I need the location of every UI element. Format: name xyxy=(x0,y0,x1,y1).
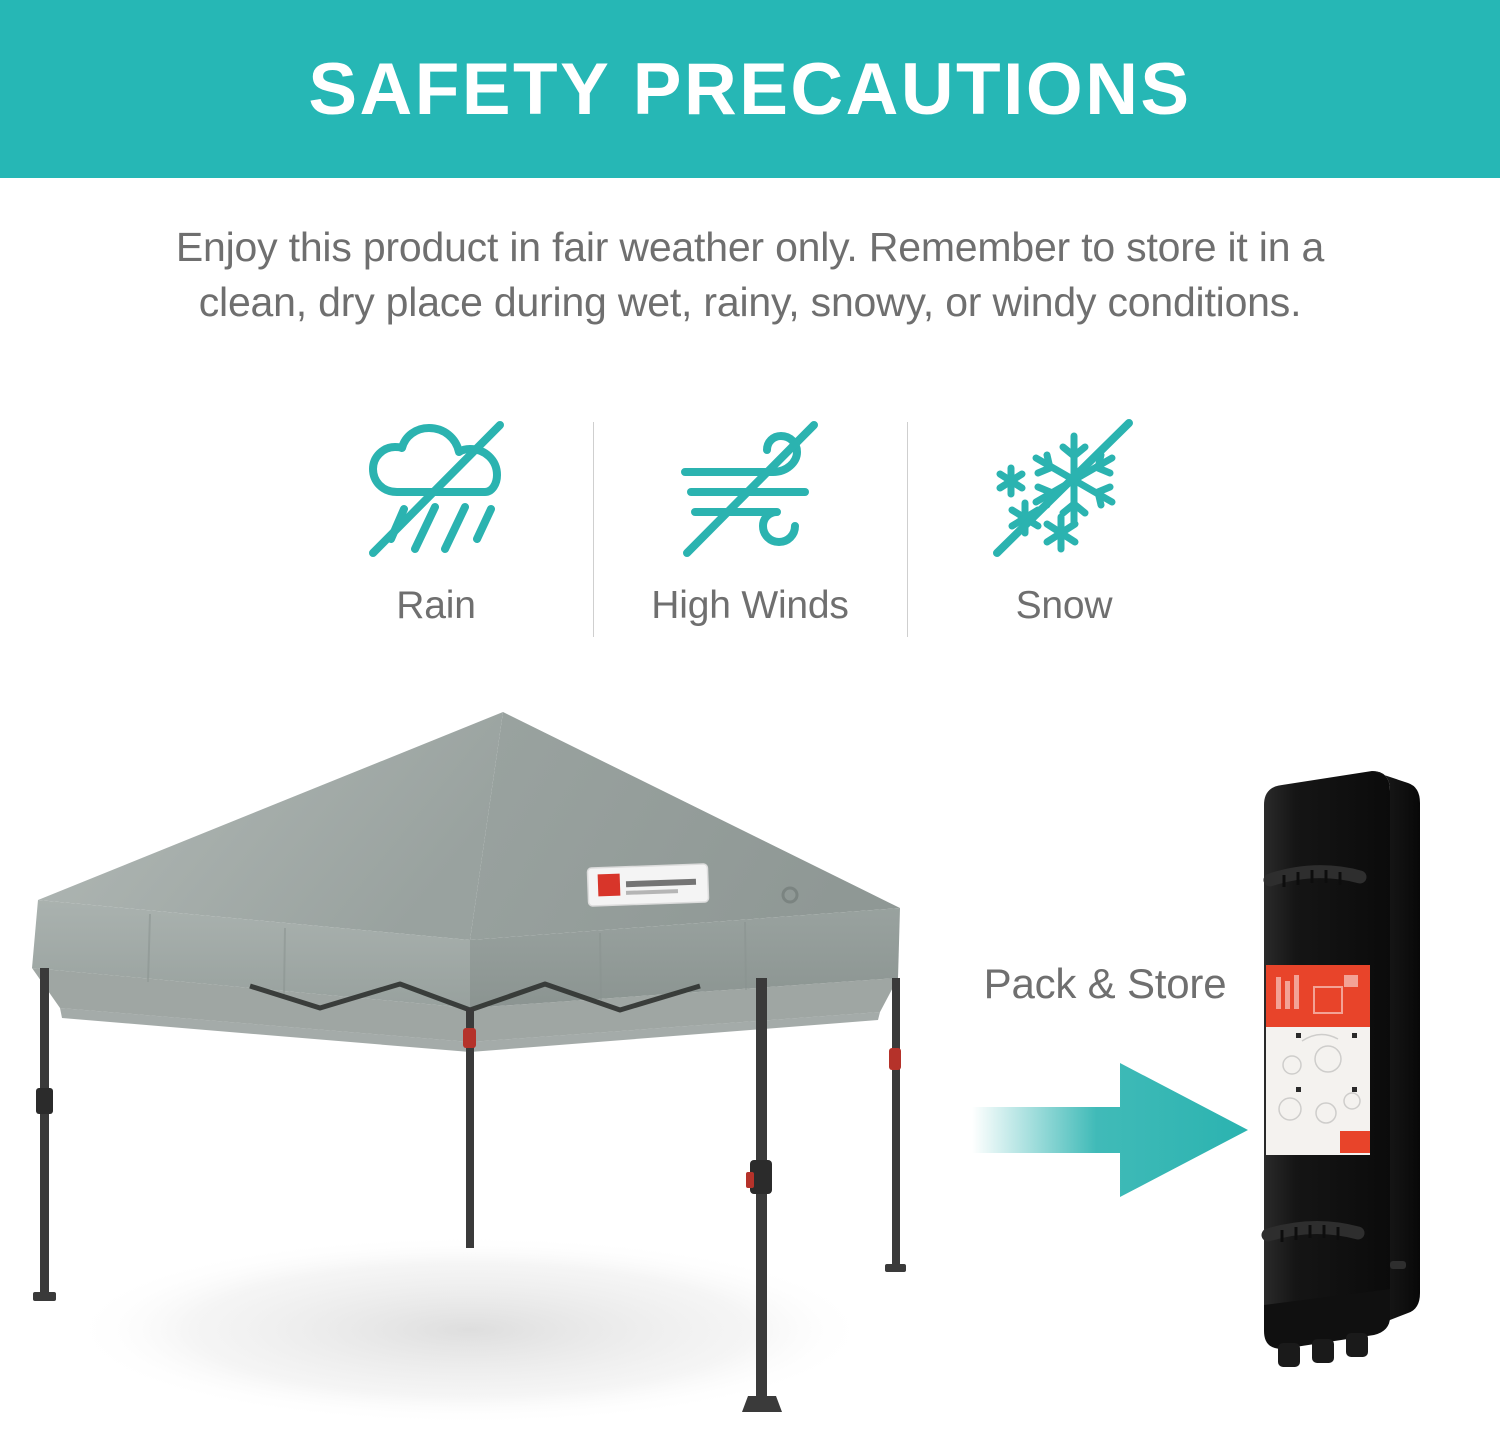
page-title: SAFETY PRECAUTIONS xyxy=(308,53,1191,126)
weather-warning-row: Rain High Winds xyxy=(0,408,1500,668)
canopy-tent-image xyxy=(0,690,1000,1430)
weather-item-high-winds: High Winds xyxy=(594,408,907,628)
bag-product-label xyxy=(1266,965,1370,1155)
no-rain-cloud-icon xyxy=(351,408,521,568)
weather-label-high-winds: High Winds xyxy=(651,584,848,628)
brand-label xyxy=(587,864,708,906)
subtitle-line-2: clean, dry place during wet, rainy, snow… xyxy=(0,275,1500,330)
pack-store-arrow xyxy=(960,1055,1260,1205)
no-snow-snowflake-icon xyxy=(979,408,1149,568)
weather-label-snow: Snow xyxy=(1016,584,1113,628)
product-illustration-area: Pack & Store xyxy=(0,690,1500,1430)
carry-bag-image xyxy=(1240,765,1460,1385)
subtitle-line-1: Enjoy this product in fair weather only.… xyxy=(0,220,1500,275)
no-high-wind-icon xyxy=(665,408,835,568)
weather-item-snow: Snow xyxy=(908,408,1221,628)
weather-label-rain: Rain xyxy=(396,584,475,628)
header-banner: SAFETY PRECAUTIONS xyxy=(0,0,1500,178)
weather-item-rain: Rain xyxy=(280,408,593,628)
subtitle-block: Enjoy this product in fair weather only.… xyxy=(0,178,1500,329)
pack-store-label: Pack & Store xyxy=(960,960,1250,1008)
